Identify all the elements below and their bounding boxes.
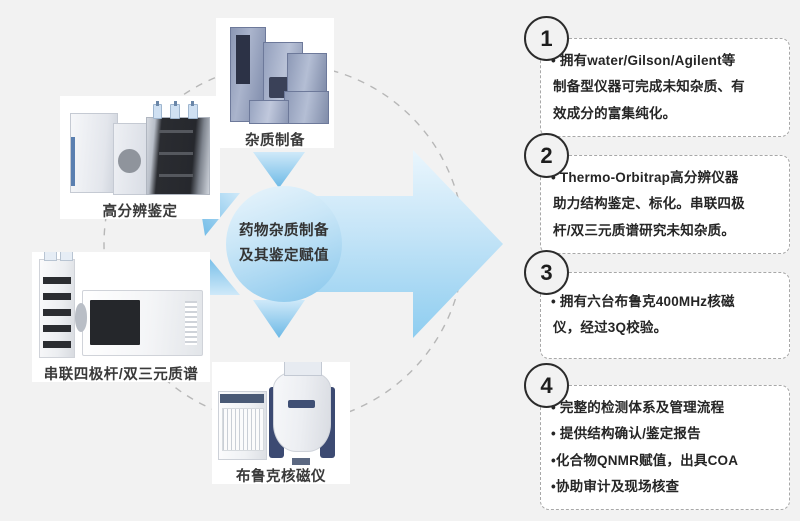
item-line: 助力结构鉴定、标化。串联四极 — [551, 191, 781, 217]
infographic-root: 药物杂质制备 及其鉴定赋值 杂质制备 高分辨鉴 — [0, 0, 800, 521]
node-tandem-ms[interactable]: 串联四极杆/双三元质谱 — [32, 252, 210, 382]
item-number-badge-4: 4 — [524, 363, 569, 408]
item-line: 杆/双三元质谱研究未知杂质。 — [551, 218, 781, 244]
tandem-mass-spectrometer-icon — [32, 252, 210, 363]
triangle-from-top — [253, 152, 305, 188]
node-impurity-prep[interactable]: 杂质制备 — [216, 18, 334, 148]
node-label-high-res-id: 高分辨鉴定 — [103, 200, 178, 220]
item-text-box-4: • 完整的检测体系及管理流程 • 提供结构确认/鉴定报告 •化合物QNMR赋值，… — [540, 385, 790, 510]
nmr-spectrometer-icon — [212, 362, 350, 465]
center-line-1: 药物杂质制备 — [239, 219, 329, 244]
preparative-chromatography-icon — [216, 18, 334, 129]
item-number-badge-1: 1 — [524, 16, 569, 61]
node-label-tandem-ms: 串联四极杆/双三元质谱 — [44, 363, 199, 383]
item-line: • 完整的检测体系及管理流程 — [551, 395, 781, 421]
node-high-res-id[interactable]: 高分辨鉴定 — [60, 96, 220, 219]
item-line: • 拥有water/Gilson/Agilent等 — [551, 48, 781, 74]
item-text-box-2: • Thermo-Orbitrap高分辨仪器 助力结构鉴定、标化。串联四极 杆/… — [540, 155, 790, 254]
node-label-bruker-nmr: 布鲁克核磁仪 — [236, 465, 326, 485]
center-label: 药物杂质制备 及其鉴定赋值 — [226, 186, 342, 302]
item-text-box-3: • 拥有六台布鲁克400MHz核磁 仪，经过3Q校验。 — [540, 272, 790, 359]
center-line-2: 及其鉴定赋值 — [239, 244, 329, 269]
item-line: • Thermo-Orbitrap高分辨仪器 — [551, 165, 781, 191]
item-line: •协助审计及现场核查 — [551, 474, 781, 500]
item-line: • 提供结构确认/鉴定报告 — [551, 421, 781, 447]
item-line: 仪，经过3Q校验。 — [551, 315, 781, 341]
node-bruker-nmr[interactable]: 布鲁克核磁仪 — [212, 362, 350, 484]
item-line: 制备型仪器可完成未知杂质、有 — [551, 74, 781, 100]
item-number-badge-3: 3 — [524, 250, 569, 295]
item-line: •化合物QNMR赋值，出具COA — [551, 448, 781, 474]
item-number-badge-2: 2 — [524, 133, 569, 178]
triangle-from-bottom — [253, 300, 305, 338]
capability-list: 1 • 拥有water/Gilson/Agilent等 制备型仪器可完成未知杂质… — [510, 0, 800, 521]
node-label-impurity-prep: 杂质制备 — [245, 129, 305, 149]
item-line: 效成分的富集纯化。 — [551, 101, 781, 127]
process-diagram: 药物杂质制备 及其鉴定赋值 杂质制备 高分辨鉴 — [0, 0, 510, 521]
item-text-box-1: • 拥有water/Gilson/Agilent等 制备型仪器可完成未知杂质、有… — [540, 38, 790, 137]
item-line: • 拥有六台布鲁克400MHz核磁 — [551, 289, 781, 315]
high-resolution-ms-icon — [60, 96, 220, 200]
